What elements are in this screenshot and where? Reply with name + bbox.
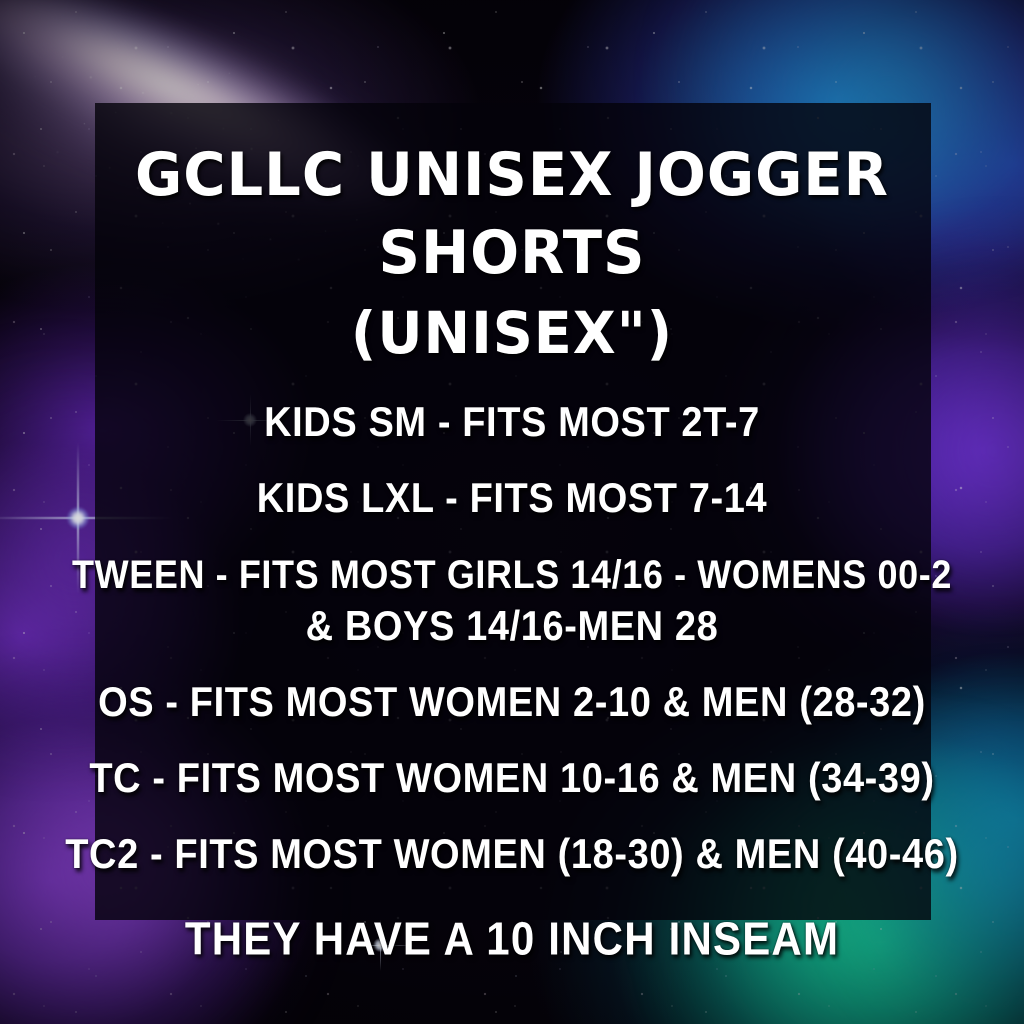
size-line-tween: TWEEN - FITS MOST GIRLS 14/16 - WOMENS 0… (0, 550, 1024, 601)
size-line-os: OS - FITS MOST WOMEN 2-10 & MEN (28-32) (0, 678, 1024, 729)
size-line-tc: TC - FITS MOST WOMEN 10-16 & MEN (34-39) (0, 754, 1024, 805)
inseam-note: THEY HAVE A 10 INCH INSEAM (0, 914, 1024, 965)
size-list: KIDS SM - FITS MOST 2T-7 KIDS LXL - FITS… (0, 400, 1024, 908)
page-subtitle: (UNISEX") (20, 296, 1003, 370)
size-line-tween-boys: & BOYS 14/16-MEN 28 (0, 602, 1024, 653)
size-chart-graphic: GCLLC UNISEX JOGGER SHORTS (UNISEX") KID… (0, 0, 1024, 1024)
size-line-kids-sm: KIDS SM - FITS MOST 2T-7 (0, 398, 1024, 449)
chart-content: GCLLC UNISEX JOGGER SHORTS (UNISEX") KID… (0, 0, 1024, 1024)
size-line-tc2: TC2 - FITS MOST WOMEN (18-30) & MEN (40-… (0, 830, 1024, 881)
size-line-kids-lxl: KIDS LXL - FITS MOST 7-14 (0, 474, 1024, 525)
page-title: GCLLC UNISEX JOGGER SHORTS (20, 136, 1003, 292)
